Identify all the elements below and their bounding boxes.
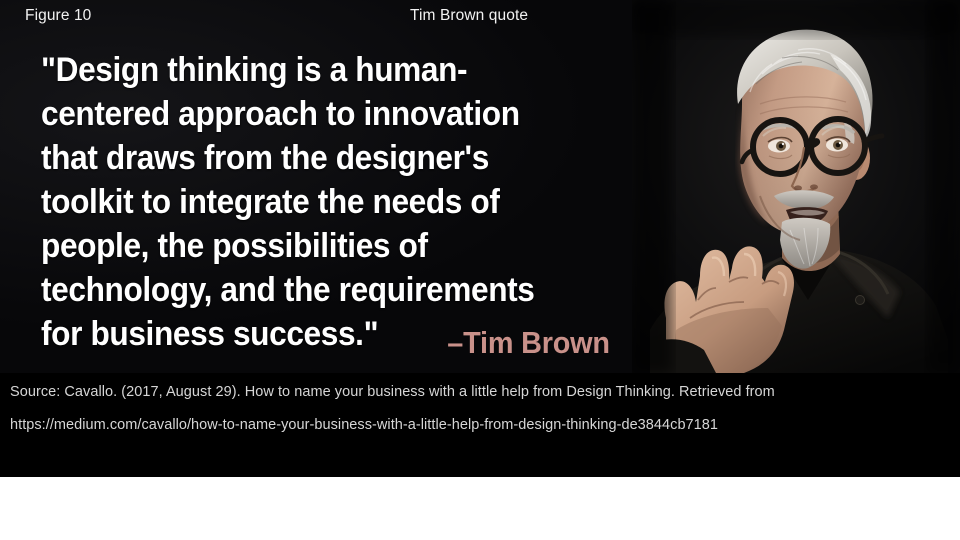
quote-text: "Design thinking is a human-centered app… <box>41 48 580 356</box>
portrait-illustration <box>632 0 960 373</box>
figure-title-label: Tim Brown quote <box>410 7 528 25</box>
slide-black-background: "Design thinking is a human-centered app… <box>0 0 960 477</box>
slide-header: Figure 10 Tim Brown quote <box>0 0 960 36</box>
figure-number-label: Figure 10 <box>25 7 91 25</box>
source-caption-line-1: Source: Cavallo. (2017, August 29). How … <box>10 384 775 400</box>
source-caption: Source: Cavallo. (2017, August 29). How … <box>0 373 960 477</box>
quote-card: "Design thinking is a human-centered app… <box>0 0 636 373</box>
slide-canvas: "Design thinking is a human-centered app… <box>0 0 960 540</box>
page-white-area <box>0 477 960 540</box>
quote-attribution: –Tim Brown <box>447 325 610 361</box>
source-caption-url[interactable]: https://medium.com/cavallo/how-to-name-y… <box>10 417 718 433</box>
portrait-photo <box>632 0 960 373</box>
